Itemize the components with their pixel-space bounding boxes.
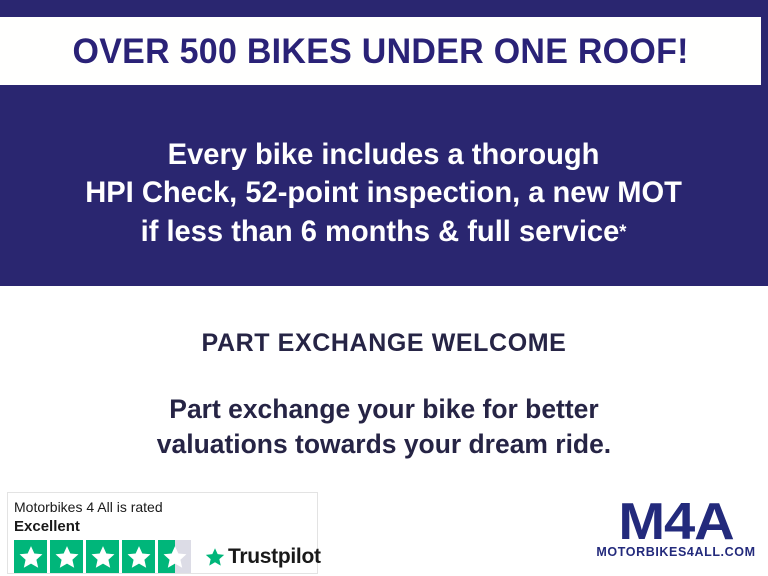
star-icon	[86, 540, 119, 573]
feature-line-2: HPI Check, 52-point inspection, a new MO…	[86, 174, 683, 212]
part-exchange-line-2: valuations towards your dream ride.	[8, 427, 761, 462]
star-half-icon	[158, 540, 191, 573]
trustpilot-score-label: Excellent	[14, 517, 317, 537]
star-icon	[50, 540, 83, 573]
promo-poster: OVER 500 BIKES UNDER ONE ROOF! Every bik…	[0, 0, 768, 576]
trustpilot-rated-text: Motorbikes 4 All is rated	[14, 499, 317, 517]
brand-logo[interactable]: M4A MOTORBIKES4ALL.COM	[592, 494, 760, 566]
trustpilot-logo[interactable]: Trustpilot	[205, 545, 321, 569]
feature-line-3: if less than 6 months & full service	[141, 215, 620, 248]
header-band: OVER 500 BIKES UNDER ONE ROOF!	[0, 17, 761, 85]
trustpilot-widget[interactable]: Motorbikes 4 All is rated Excellent	[7, 492, 318, 574]
feature-line-1: Every bike includes a thorough	[86, 136, 683, 174]
part-exchange-line-1: Part exchange your bike for better	[8, 392, 761, 427]
footnote-asterisk: *	[620, 222, 627, 243]
star-icon	[122, 540, 155, 573]
star-icon	[14, 540, 47, 573]
part-exchange-text: Part exchange your bike for better valua…	[8, 392, 761, 461]
trustpilot-rating-row: Trustpilot	[14, 540, 317, 573]
feature-line-3-wrap: if less than 6 months & full service*	[86, 213, 683, 251]
page-title: OVER 500 BIKES UNDER ONE ROOF!	[72, 34, 688, 69]
part-exchange-heading: PART EXCHANGE WELCOME	[0, 329, 768, 358]
trustpilot-brand-text: Trustpilot	[228, 545, 321, 569]
feature-block: Every bike includes a thorough HPI Check…	[0, 85, 768, 286]
feature-text: Every bike includes a thorough HPI Check…	[86, 136, 683, 250]
brand-logo-mark: M4A	[585, 498, 766, 547]
part-exchange-block: PART EXCHANGE WELCOME Part exchange your…	[0, 286, 768, 576]
trustpilot-stars	[14, 540, 191, 573]
trustpilot-star-icon	[205, 547, 225, 567]
